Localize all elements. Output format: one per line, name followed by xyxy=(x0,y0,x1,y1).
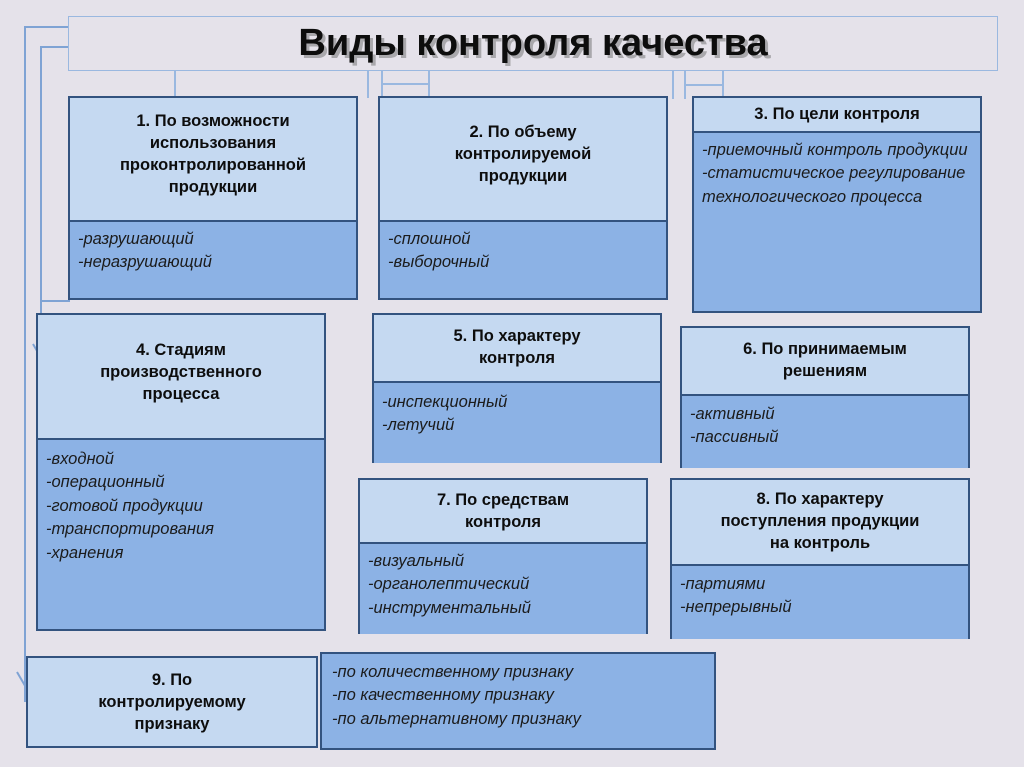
list-item: -инструментальный xyxy=(368,597,642,620)
category-box-1[interactable]: 1. По возможности использования проконтр… xyxy=(68,96,358,300)
list-item: -по качественному признаку xyxy=(332,684,710,707)
connector-box2-bridge xyxy=(381,83,429,85)
header-line: 3. По цели контроля xyxy=(700,103,974,125)
category-4-items: -входной -операционный -готовой продукци… xyxy=(38,438,324,629)
header-line: 8. По характеру xyxy=(678,488,962,510)
header-line: производственного xyxy=(44,361,318,383)
list-item: -инспекционный xyxy=(382,391,656,414)
header-line: решениям xyxy=(688,360,962,382)
category-1-items: -разрушающий -неразрушающий xyxy=(70,220,356,298)
list-item: -готовой продукции xyxy=(46,495,320,518)
list-item: -по количественному признаку xyxy=(332,661,710,684)
list-item: -пассивный xyxy=(690,426,964,449)
connector-left-outer-vertical xyxy=(24,26,26,702)
category-6-items: -активный -пассивный xyxy=(682,394,968,468)
category-5-header: 5. По характеру контроля xyxy=(374,315,660,381)
list-item: -неразрушающий xyxy=(78,251,352,274)
list-item: -приемочный контроль продукции xyxy=(702,139,976,162)
list-item: -разрушающий xyxy=(78,228,352,251)
header-line: контролируемому xyxy=(98,691,245,713)
header-line: процесса xyxy=(44,383,318,405)
page-title: Виды контроля качества xyxy=(298,22,767,65)
list-item: -непрерывный xyxy=(680,596,964,619)
list-item: -транспортирования xyxy=(46,518,320,541)
category-9-items: -по количественному признаку -по качеств… xyxy=(320,652,716,750)
list-item: -летучий xyxy=(382,414,656,437)
header-line: 7. По средствам xyxy=(366,489,640,511)
category-3-items: -приемочный контроль продукции -статисти… xyxy=(694,131,980,311)
header-line: 1. По возможности xyxy=(76,110,350,132)
category-box-6[interactable]: 6. По принимаемым решениям -активный -па… xyxy=(680,326,970,468)
header-line: на контроль xyxy=(678,532,962,554)
category-8-items: -партиями -непрерывный xyxy=(672,564,968,639)
header-line: 5. По характеру xyxy=(380,325,654,347)
category-box-8[interactable]: 8. По характеру поступления продукции на… xyxy=(670,478,970,639)
category-7-items: -визуальный -органолептический -инструме… xyxy=(360,542,646,634)
header-line: 4. Стадиям xyxy=(44,339,318,361)
header-line: использования xyxy=(76,132,350,154)
category-5-items: -инспекционный -летучий xyxy=(374,381,660,463)
connector-left-inner-vertical xyxy=(40,46,42,331)
connector-title-to-box1 xyxy=(174,71,176,98)
slide-canvas: Виды контроля качества 1. По возможности… xyxy=(0,0,1024,767)
connector-box1-to-box4-h xyxy=(40,300,70,302)
category-4-header: 4. Стадиям производственного процесса xyxy=(38,315,324,438)
category-3-header: 3. По цели контроля xyxy=(694,98,980,131)
list-item: -сплошной xyxy=(388,228,662,251)
category-box-4[interactable]: 4. Стадиям производственного процесса -в… xyxy=(36,313,326,631)
list-item: -по альтернативному признаку xyxy=(332,708,710,731)
slide-title-box: Виды контроля качества xyxy=(68,16,998,71)
category-1-header: 1. По возможности использования проконтр… xyxy=(70,98,356,220)
header-line: проконтролированной xyxy=(76,154,350,176)
list-item: -статистическое регулирование технологич… xyxy=(702,162,976,209)
header-line: 6. По принимаемым xyxy=(688,338,962,360)
list-item: -операционный xyxy=(46,471,320,494)
category-box-2[interactable]: 2. По объему контролируемой продукции -с… xyxy=(378,96,668,300)
header-line: 9. По xyxy=(98,669,245,691)
connector-title-to-box3-left xyxy=(672,71,674,99)
list-item: -хранения xyxy=(46,542,320,565)
category-2-header: 2. По объему контролируемой продукции xyxy=(380,98,666,220)
header-line: контроля xyxy=(380,347,654,369)
list-item: -активный xyxy=(690,403,964,426)
list-item: -визуальный xyxy=(368,550,642,573)
category-box-9[interactable]: 9. По контролируемому признаку -по колич… xyxy=(26,652,716,750)
connector-left-outer-top xyxy=(24,26,70,28)
category-9-header: 9. По контролируемому признаку xyxy=(26,656,318,748)
header-line: продукции xyxy=(386,165,660,187)
header-line: 2. По объему xyxy=(386,121,660,143)
category-7-header: 7. По средствам контроля xyxy=(360,480,646,542)
header-line: продукции xyxy=(76,176,350,198)
category-box-3[interactable]: 3. По цели контроля -приемочный контроль… xyxy=(692,96,982,313)
header-line: признаку xyxy=(98,713,245,735)
category-box-5[interactable]: 5. По характеру контроля -инспекционный … xyxy=(372,313,662,463)
list-item: -входной xyxy=(46,448,320,471)
list-item: -выборочный xyxy=(388,251,662,274)
connector-left-inner-top xyxy=(40,46,70,48)
header-line: контроля xyxy=(366,511,640,533)
list-item: -органолептический xyxy=(368,573,642,596)
connector-box3-bridge xyxy=(684,84,724,86)
category-8-header: 8. По характеру поступления продукции на… xyxy=(672,480,968,564)
category-6-header: 6. По принимаемым решениям xyxy=(682,328,968,394)
connector-title-to-box2-left xyxy=(367,71,369,98)
header-line: поступления продукции xyxy=(678,510,962,532)
category-2-items: -сплошной -выборочный xyxy=(380,220,666,298)
header-line: контролируемой xyxy=(386,143,660,165)
list-item: -партиями xyxy=(680,573,964,596)
connector-box1-to-box4 xyxy=(40,300,42,314)
category-box-7[interactable]: 7. По средствам контроля -визуальный -ор… xyxy=(358,478,648,634)
